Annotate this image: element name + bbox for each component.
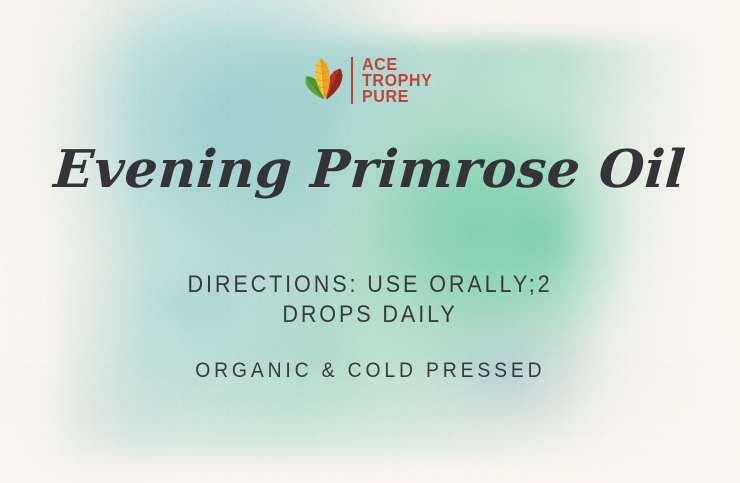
product-title: Evening Primrose Oil — [52, 144, 687, 196]
brand-name-line-3: PURE — [362, 88, 432, 104]
product-label-canvas: ACE TROPHY PURE Evening Primrose Oil DIR… — [0, 0, 740, 483]
brand-name: ACE TROPHY PURE — [362, 56, 432, 104]
logo-divider-rule — [351, 57, 353, 104]
directions-text: DIRECTIONS: USE ORALLY;2 DROPS DAILY — [159, 270, 582, 330]
label-content: ACE TROPHY PURE Evening Primrose Oil DIR… — [0, 0, 740, 483]
brand-logo: ACE TROPHY PURE — [301, 52, 439, 108]
claim-text: ORGANIC & COLD PRESSED — [195, 358, 545, 384]
three-leaves-icon — [301, 55, 347, 105]
